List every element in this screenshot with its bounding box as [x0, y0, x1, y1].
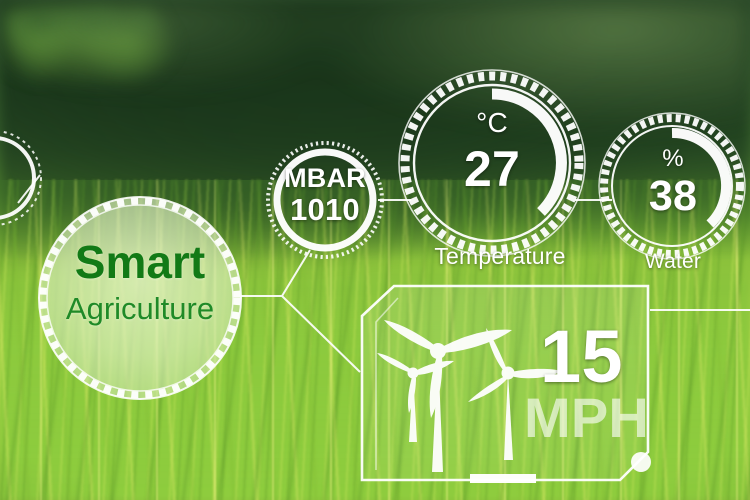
water-unit-label: %	[636, 145, 710, 173]
water-caption: Water	[608, 250, 738, 274]
pressure-unit-label: MBAR	[277, 163, 373, 194]
brand-title: Smart	[40, 238, 240, 286]
wind-panel-bottom-marker	[470, 474, 536, 483]
temperature-value: 27	[450, 140, 534, 198]
connector-node-to-wind	[282, 296, 360, 372]
water-value: 38	[636, 172, 710, 221]
screenshot-root: MBAR 1010 °C 27 Temperature % 38 Water 1…	[0, 0, 750, 500]
temperature-caption: Temperature	[422, 243, 578, 270]
connector-node-to-pressure	[282, 250, 310, 296]
temperature-unit-label: °C	[450, 107, 534, 139]
wind-speed-unit: MPH	[524, 390, 684, 446]
wind-panel-corner-dot	[631, 452, 651, 472]
brand-subtitle: Agriculture	[34, 292, 246, 326]
pressure-value: 1010	[277, 192, 373, 228]
gauge-left-partial	[0, 131, 41, 225]
wind-speed-value: 15	[540, 320, 670, 394]
